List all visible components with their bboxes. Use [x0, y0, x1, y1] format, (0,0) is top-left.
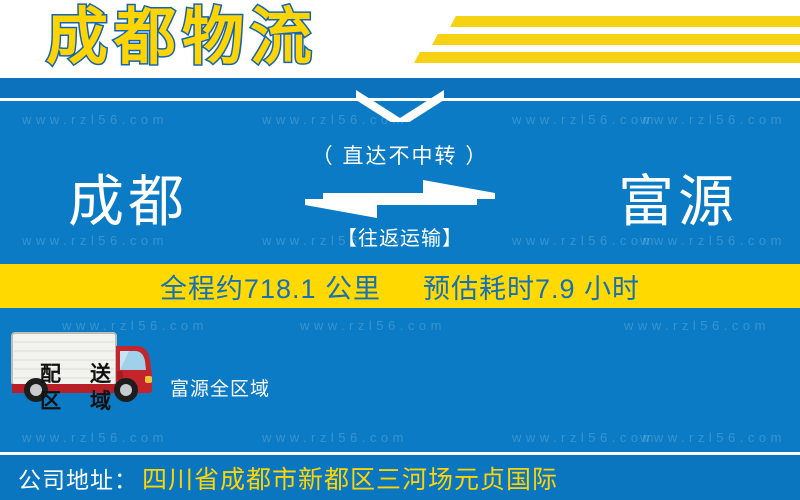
chevron-down-icon — [352, 88, 448, 122]
distance-text: 全程约718.1 公里 — [160, 267, 381, 306]
delivery-truck-icon: 配 送 区 域 — [8, 330, 154, 402]
truck-char-1: 配 — [26, 361, 76, 388]
stripe-2 — [432, 34, 800, 45]
address-bar: 公司地址： 四川省成都市新都区三河场元贞国际 — [0, 455, 800, 500]
logistics-banner: 成都物流 （ 直达不中转 ） 成都 富源 【往返运输】 全程约718.1 公里 … — [0, 0, 800, 500]
banner-header: 成都物流 — [0, 0, 800, 78]
stripe-1 — [450, 16, 800, 27]
stripe-3 — [414, 52, 800, 63]
delivery-section: 配 送 区 域 富源全区域 — [0, 308, 800, 455]
roundtrip-label: 【往返运输】 — [0, 222, 800, 251]
address-label: 公司地址： — [18, 461, 138, 495]
duration-text: 预估耗时7.9 小时 — [423, 267, 640, 306]
page-title: 成都物流 — [46, 2, 318, 74]
truck-char-2: 送 — [76, 361, 126, 388]
coverage-text: 富源全区域 — [170, 374, 270, 401]
direct-route-label: （ 直达不中转 ） — [0, 140, 800, 170]
decorative-stripes — [380, 14, 800, 70]
truck-box-label: 配 送 区 域 — [26, 360, 126, 416]
address-value: 四川省成都市新都区三河场元贞国际 — [142, 460, 558, 496]
bidirectional-arrow-icon — [305, 180, 495, 218]
metrics-band: 全程约718.1 公里 预估耗时7.9 小时 — [0, 264, 800, 308]
truck-char-3: 区 — [26, 388, 76, 415]
truck-char-4: 域 — [76, 388, 126, 415]
